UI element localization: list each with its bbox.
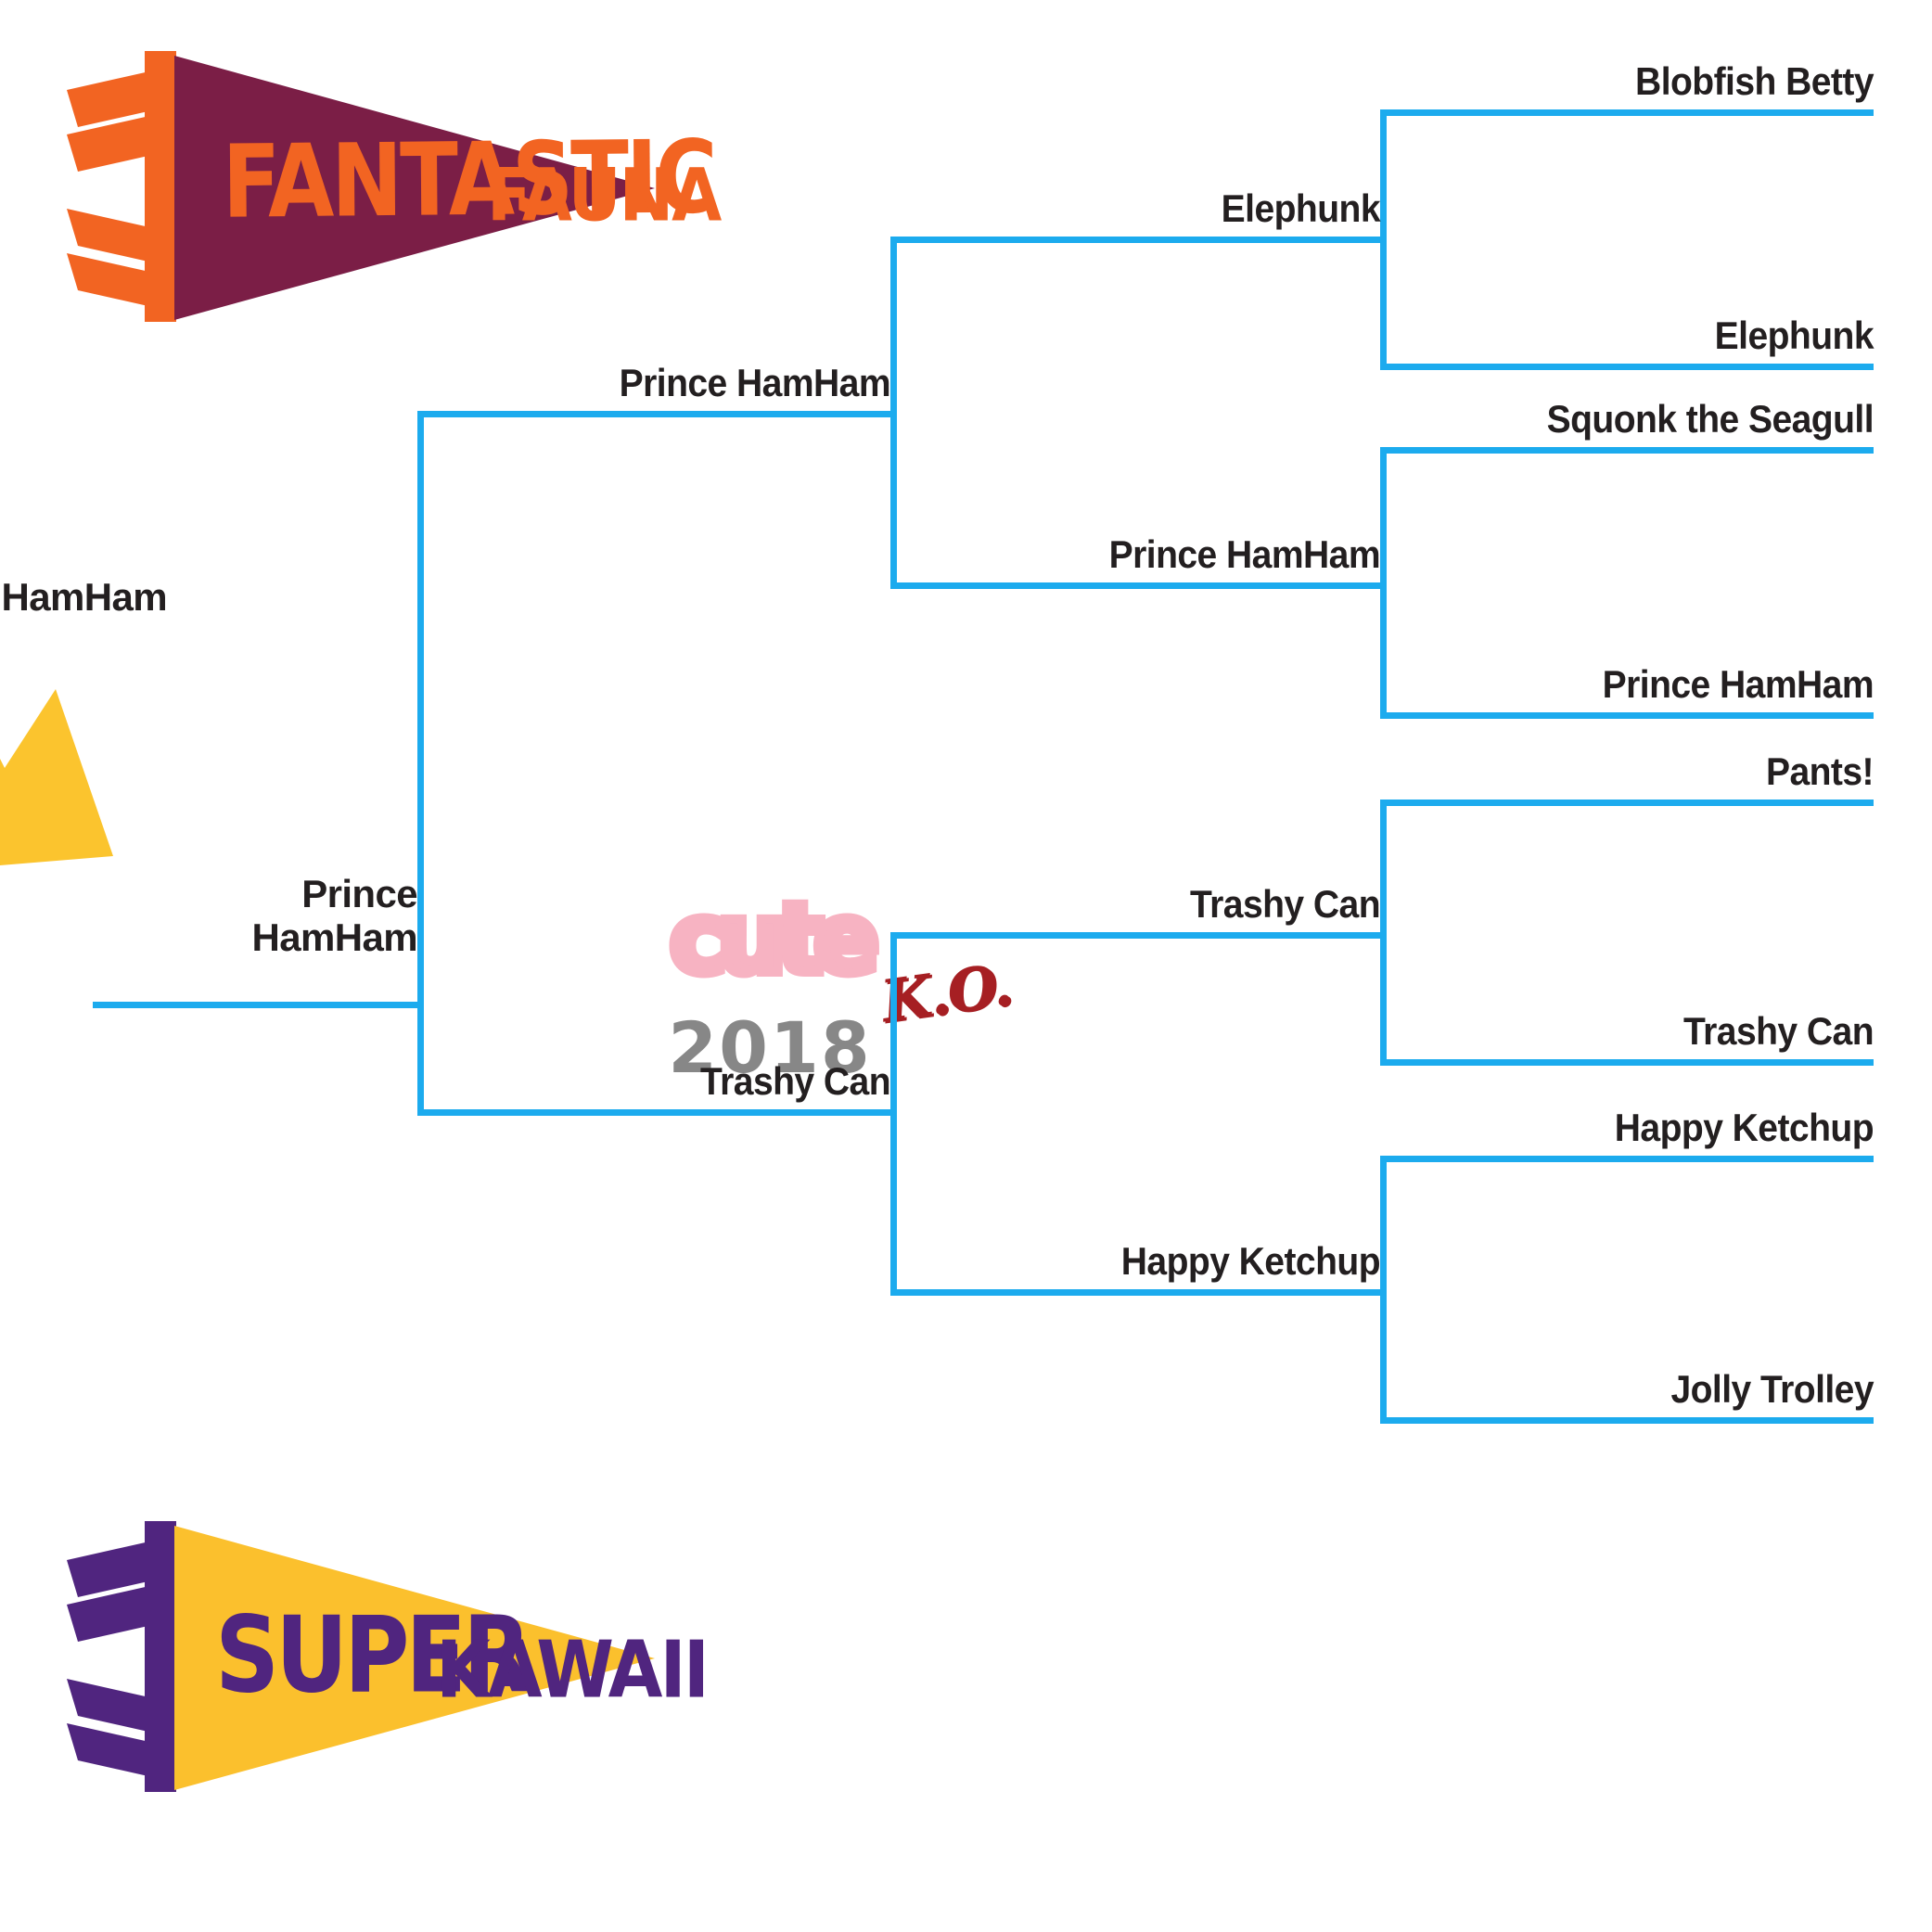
bracket-name-r1-trashy-can[interactable]: Trashy Can — [1442, 1011, 1874, 1053]
bracket-champion-line-1: Prince — [139, 872, 417, 915]
bracket-line-sf-4 — [890, 1289, 1387, 1296]
bracket-name-sf-trashy-can[interactable]: Trashy Can — [959, 884, 1380, 926]
pennant-pole — [145, 1521, 176, 1792]
bracket-name-sf-happy-ketchup[interactable]: Happy Ketchup — [925, 1241, 1380, 1283]
bracket-line-r1-3 — [1380, 447, 1874, 454]
bracket-name-r1-jolly-trolley[interactable]: Jolly Trolley — [1442, 1369, 1874, 1411]
bracket-champion-line-2: HamHam — [139, 915, 417, 959]
pennant-fantastic-fauna: FANTASTIC FAUNA — [65, 42, 677, 329]
logo-ko-text: K.O. — [877, 951, 1015, 1036]
pennant-super-kawaii: SUPER KAWAII — [65, 1512, 677, 1799]
logo-cute-text: cute — [670, 890, 870, 987]
bracket-connector-final — [417, 411, 424, 1116]
bracket-line-r1-2 — [1380, 364, 1874, 370]
bracket-line-sf-1 — [890, 237, 1387, 243]
bracket-name-r1-happy-ketchup[interactable]: Happy Ketchup — [1374, 1107, 1874, 1149]
bracket-name-final-trashy-can[interactable]: Trashy Can — [459, 1061, 890, 1103]
pennant-label-kawaii: KAWAII — [436, 1624, 707, 1716]
bracket-canvas: FANTASTIC FAUNA HamHam SUPER KAWAII cute… — [0, 0, 1932, 1932]
bracket-name-r1-elephunk[interactable]: Elephunk — [1442, 315, 1874, 357]
bracket-name-sf-elephunk[interactable]: Elephunk — [959, 188, 1380, 230]
bracket-line-r1-8 — [1380, 1417, 1874, 1424]
bracket-name-r1-pants[interactable]: Pants! — [1442, 751, 1874, 793]
pennant-pole — [145, 51, 176, 322]
bracket-name-r1-squonk-the-seagull[interactable]: Squonk the Seagull — [1374, 399, 1874, 441]
bracket-name-final-prince-hamham[interactable]: Prince HamHam — [459, 363, 890, 404]
bracket-name-r1-blobfish-betty[interactable]: Blobfish Betty — [1442, 61, 1874, 103]
bracket-name-sf-prince-hamham[interactable]: Prince HamHam — [925, 534, 1380, 576]
bracket-name-r1-prince-hamham[interactable]: Prince HamHam — [1374, 664, 1874, 706]
tournament-logo: cute K.O. 2018 — [575, 890, 965, 1083]
bracket-line-sf-3 — [890, 932, 1387, 939]
bracket-line-final-1 — [417, 411, 897, 417]
bracket-line-champion — [93, 1002, 424, 1008]
bracket-line-r1-6 — [1380, 1059, 1874, 1066]
bracket-line-r1-7 — [1380, 1156, 1874, 1162]
bracket-champion[interactable]: Prince HamHam — [139, 872, 417, 959]
crown-label-hamham: HamHam — [0, 575, 167, 620]
bracket-line-r1-4 — [1380, 712, 1874, 719]
bracket-line-final-2 — [417, 1109, 897, 1116]
pennant-label-fauna: FAUNA — [487, 153, 723, 238]
bracket-line-r1-5 — [1380, 800, 1874, 806]
bracket-line-r1-1 — [1380, 109, 1874, 116]
bracket-line-sf-2 — [890, 582, 1387, 589]
